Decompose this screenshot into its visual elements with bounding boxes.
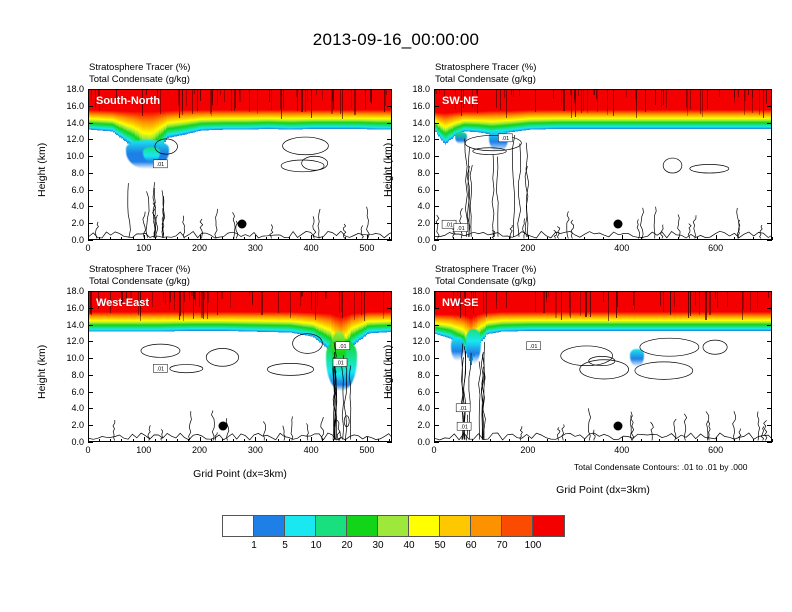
x-tick-minor bbox=[603, 439, 604, 442]
y-tick-mark bbox=[434, 442, 439, 443]
condensate-contours: .01.01.01 bbox=[89, 292, 392, 442]
plot-area-nw-se[interactable]: .01.01.01NW-SE bbox=[434, 291, 772, 442]
colorbar[interactable] bbox=[222, 515, 565, 537]
x-tick-minor bbox=[584, 237, 585, 240]
x-tick-mark bbox=[144, 437, 145, 442]
x-tick-mark bbox=[144, 235, 145, 240]
y-tick-mark bbox=[434, 190, 439, 191]
y-tick-label: 8.0 bbox=[400, 168, 430, 178]
svg-text:.01: .01 bbox=[339, 344, 347, 350]
colorbar-label-8: 70 bbox=[496, 540, 507, 551]
x-tick-mark bbox=[88, 235, 89, 240]
x-tick-label: 500 bbox=[359, 243, 374, 253]
svg-text:.01: .01 bbox=[336, 361, 344, 367]
y-tick-label: 2.0 bbox=[400, 420, 430, 430]
colorbar-cell-5[interactable] bbox=[378, 516, 409, 536]
condensate-contours: .01.01.01 bbox=[435, 292, 772, 442]
x-tick-minor bbox=[565, 439, 566, 442]
y-tick-mark bbox=[434, 223, 439, 224]
station-marker[interactable] bbox=[238, 220, 247, 229]
colorbar-cell-1[interactable] bbox=[254, 516, 285, 536]
colorbar-label-4: 30 bbox=[372, 540, 383, 551]
y-tick-label: 2.0 bbox=[54, 420, 84, 430]
x-tick-mark bbox=[200, 437, 201, 442]
y-tick-mark bbox=[434, 358, 439, 359]
station-marker[interactable] bbox=[614, 422, 623, 431]
x-tick-label: 500 bbox=[359, 445, 374, 455]
x-tick-mark bbox=[367, 235, 368, 240]
x-tick-minor bbox=[472, 439, 473, 442]
y-tick-label: 8.0 bbox=[400, 370, 430, 380]
x-tick-minor bbox=[133, 237, 134, 240]
x-tick-minor bbox=[356, 439, 357, 442]
x-tick-label: 0 bbox=[85, 445, 90, 455]
panel-header: Stratosphere Tracer (%)Total Condensate … bbox=[89, 264, 190, 287]
x-tick-minor bbox=[289, 439, 290, 442]
y-tick-mark-right bbox=[387, 425, 392, 426]
y-tick-mark-right bbox=[387, 325, 392, 326]
y-tick-label: 14.0 bbox=[400, 320, 430, 330]
y-tick-mark-right bbox=[387, 223, 392, 224]
y-tick-mark bbox=[434, 308, 439, 309]
x-tick-minor bbox=[565, 237, 566, 240]
x-tick-minor bbox=[509, 439, 510, 442]
x-tick-minor bbox=[509, 237, 510, 240]
y-tick-mark bbox=[88, 325, 93, 326]
y-tick-mark-right bbox=[767, 325, 772, 326]
y-tick-mark bbox=[434, 240, 439, 241]
x-tick-label: 200 bbox=[520, 445, 535, 455]
y-tick-mark bbox=[434, 173, 439, 174]
y-tick-mark-right bbox=[767, 442, 772, 443]
y-tick-mark-right bbox=[767, 408, 772, 409]
station-marker[interactable] bbox=[218, 422, 227, 431]
y-tick-mark bbox=[434, 425, 439, 426]
y-tick-mark bbox=[434, 375, 439, 376]
y-tick-label: 6.0 bbox=[54, 387, 84, 397]
header-line-1: Total Condensate (g/kg) bbox=[435, 74, 536, 86]
panel-header: Stratosphere Tracer (%)Total Condensate … bbox=[435, 264, 536, 287]
y-tick-mark-right bbox=[767, 425, 772, 426]
x-tick-mark bbox=[434, 235, 435, 240]
y-tick-label: 0.0 bbox=[54, 437, 84, 447]
x-tick-minor bbox=[453, 237, 454, 240]
header-line-0: Stratosphere Tracer (%) bbox=[89, 62, 190, 74]
y-tick-mark bbox=[434, 392, 439, 393]
x-tick-minor bbox=[155, 237, 156, 240]
header-line-0: Stratosphere Tracer (%) bbox=[89, 264, 190, 276]
x-tick-minor bbox=[659, 237, 660, 240]
x-tick-minor bbox=[378, 439, 379, 442]
y-tick-mark-right bbox=[387, 341, 392, 342]
x-tick-minor bbox=[333, 237, 334, 240]
x-tick-minor bbox=[345, 237, 346, 240]
x-tick-minor bbox=[188, 439, 189, 442]
y-tick-mark bbox=[434, 139, 439, 140]
y-tick-mark-right bbox=[387, 123, 392, 124]
y-tick-label: 16.0 bbox=[54, 101, 84, 111]
y-tick-mark-right bbox=[767, 123, 772, 124]
x-axis-title: Grid Point (dx=3km) bbox=[88, 468, 392, 480]
x-tick-label: 200 bbox=[520, 243, 535, 253]
svg-text:.01: .01 bbox=[502, 136, 510, 142]
y-tick-label: 4.0 bbox=[400, 403, 430, 413]
x-tick-minor bbox=[133, 439, 134, 442]
y-tick-mark bbox=[434, 156, 439, 157]
y-tick-label: 6.0 bbox=[400, 387, 430, 397]
x-tick-minor bbox=[753, 237, 754, 240]
y-tick-mark bbox=[434, 325, 439, 326]
y-axis-title: Height (km) bbox=[382, 344, 394, 398]
y-tick-label: 12.0 bbox=[400, 134, 430, 144]
colorbar-label-2: 10 bbox=[310, 540, 321, 551]
y-tick-mark bbox=[88, 106, 93, 107]
y-tick-label: 10.0 bbox=[54, 151, 84, 161]
y-tick-label: 10.0 bbox=[400, 353, 430, 363]
x-tick-minor bbox=[211, 439, 212, 442]
x-tick-mark bbox=[367, 437, 368, 442]
x-tick-minor bbox=[278, 237, 279, 240]
x-tick-mark bbox=[255, 437, 256, 442]
y-tick-mark-right bbox=[767, 341, 772, 342]
y-tick-mark-right bbox=[767, 190, 772, 191]
y-tick-mark-right bbox=[767, 392, 772, 393]
y-tick-mark bbox=[88, 173, 93, 174]
y-tick-mark-right bbox=[387, 442, 392, 443]
y-tick-mark bbox=[88, 408, 93, 409]
x-tick-minor bbox=[641, 237, 642, 240]
y-tick-mark bbox=[88, 156, 93, 157]
colorbar-cell-4[interactable] bbox=[347, 516, 378, 536]
y-tick-label: 16.0 bbox=[400, 101, 430, 111]
panel-header: Stratosphere Tracer (%)Total Condensate … bbox=[435, 62, 536, 85]
y-tick-label: 0.0 bbox=[400, 437, 430, 447]
y-tick-mark bbox=[88, 291, 93, 292]
header-line-1: Total Condensate (g/kg) bbox=[435, 276, 536, 288]
x-tick-minor bbox=[389, 439, 390, 442]
x-tick-minor bbox=[222, 439, 223, 442]
x-tick-minor bbox=[99, 439, 100, 442]
x-tick-minor bbox=[300, 237, 301, 240]
y-tick-mark-right bbox=[767, 291, 772, 292]
x-tick-minor bbox=[378, 237, 379, 240]
y-tick-label: 2.0 bbox=[400, 218, 430, 228]
y-tick-label: 14.0 bbox=[54, 118, 84, 128]
y-tick-mark bbox=[88, 139, 93, 140]
x-tick-minor bbox=[333, 439, 334, 442]
colorbar-label-0: 1 bbox=[251, 540, 257, 551]
header-line-0: Stratosphere Tracer (%) bbox=[435, 264, 536, 276]
x-tick-mark bbox=[716, 235, 717, 240]
header-line-1: Total Condensate (g/kg) bbox=[89, 276, 190, 288]
x-tick-label: 400 bbox=[614, 445, 629, 455]
y-tick-mark-right bbox=[387, 89, 392, 90]
figure-root: 2013-09-16_00:00:00 Stratosphere Tracer … bbox=[0, 0, 792, 612]
y-tick-mark bbox=[434, 408, 439, 409]
y-tick-mark-right bbox=[767, 358, 772, 359]
x-tick-mark bbox=[528, 437, 529, 442]
x-tick-mark bbox=[622, 235, 623, 240]
x-tick-mark bbox=[622, 437, 623, 442]
x-tick-minor bbox=[389, 237, 390, 240]
x-tick-mark bbox=[88, 437, 89, 442]
figure-title: 2013-09-16_00:00:00 bbox=[0, 30, 792, 50]
x-tick-mark bbox=[200, 235, 201, 240]
y-tick-mark-right bbox=[767, 139, 772, 140]
x-tick-minor bbox=[278, 439, 279, 442]
y-tick-label: 14.0 bbox=[54, 320, 84, 330]
y-tick-mark-right bbox=[767, 223, 772, 224]
x-tick-minor bbox=[356, 237, 357, 240]
svg-text:.01: .01 bbox=[157, 162, 165, 168]
condensate-contours: .01 bbox=[89, 90, 392, 240]
x-tick-minor bbox=[177, 237, 178, 240]
y-tick-label: 16.0 bbox=[54, 303, 84, 313]
x-tick-minor bbox=[322, 237, 323, 240]
y-tick-label: 6.0 bbox=[400, 185, 430, 195]
y-tick-mark bbox=[88, 358, 93, 359]
svg-text:.01: .01 bbox=[460, 424, 468, 430]
y-tick-mark-right bbox=[767, 308, 772, 309]
x-axis-title: Grid Point (dx=3km) bbox=[434, 484, 772, 496]
x-tick-minor bbox=[490, 237, 491, 240]
x-tick-minor bbox=[233, 237, 234, 240]
svg-text:.01: .01 bbox=[457, 226, 465, 232]
y-tick-label: 10.0 bbox=[54, 353, 84, 363]
svg-text:.01: .01 bbox=[530, 344, 538, 350]
x-tick-minor bbox=[547, 439, 548, 442]
y-tick-label: 10.0 bbox=[400, 151, 430, 161]
x-tick-mark bbox=[434, 437, 435, 442]
x-tick-minor bbox=[222, 237, 223, 240]
x-tick-label: 0 bbox=[85, 243, 90, 253]
x-tick-minor bbox=[211, 237, 212, 240]
x-tick-minor bbox=[603, 237, 604, 240]
x-tick-label: 0 bbox=[431, 243, 436, 253]
colorbar-label-6: 50 bbox=[434, 540, 445, 551]
condensate-contours: .01.01.01 bbox=[435, 90, 772, 240]
y-tick-label: 18.0 bbox=[400, 84, 430, 94]
x-tick-minor bbox=[453, 439, 454, 442]
x-tick-minor bbox=[188, 237, 189, 240]
y-tick-mark bbox=[88, 308, 93, 309]
x-tick-minor bbox=[266, 237, 267, 240]
y-axis-title: Height (km) bbox=[382, 142, 394, 196]
y-axis-title: Height (km) bbox=[36, 344, 48, 398]
y-tick-mark bbox=[88, 123, 93, 124]
y-tick-mark bbox=[88, 240, 93, 241]
y-tick-mark bbox=[88, 190, 93, 191]
y-tick-label: 18.0 bbox=[54, 84, 84, 94]
y-tick-label: 14.0 bbox=[400, 118, 430, 128]
y-tick-mark-right bbox=[387, 139, 392, 140]
x-tick-minor bbox=[472, 237, 473, 240]
x-tick-minor bbox=[166, 439, 167, 442]
colorbar-label-3: 20 bbox=[341, 540, 352, 551]
y-tick-label: 6.0 bbox=[54, 185, 84, 195]
y-tick-mark bbox=[88, 425, 93, 426]
colorbar-cell-0[interactable] bbox=[223, 516, 254, 536]
colorbar-cell-9[interactable] bbox=[502, 516, 533, 536]
x-tick-minor bbox=[490, 439, 491, 442]
x-tick-minor bbox=[110, 439, 111, 442]
x-tick-minor bbox=[121, 237, 122, 240]
x-tick-minor bbox=[177, 439, 178, 442]
colorbar-cell-6[interactable] bbox=[409, 516, 440, 536]
colorbar-cell-8[interactable] bbox=[471, 516, 502, 536]
y-tick-mark-right bbox=[767, 375, 772, 376]
x-tick-minor bbox=[233, 439, 234, 442]
y-tick-label: 8.0 bbox=[54, 168, 84, 178]
panel-label-south-north: South-North bbox=[96, 95, 160, 107]
y-tick-mark bbox=[88, 206, 93, 207]
x-tick-minor bbox=[772, 439, 773, 442]
x-tick-minor bbox=[772, 237, 773, 240]
x-tick-mark bbox=[528, 235, 529, 240]
tracer-column bbox=[771, 292, 772, 441]
panel-label-sw-ne: SW-NE bbox=[442, 95, 478, 107]
x-tick-label: 400 bbox=[304, 445, 319, 455]
y-axis-title: Height (km) bbox=[36, 142, 48, 196]
tracer-striation bbox=[771, 292, 772, 315]
y-tick-mark-right bbox=[387, 240, 392, 241]
x-tick-minor bbox=[345, 439, 346, 442]
y-tick-label: 4.0 bbox=[54, 403, 84, 413]
colorbar-cell-10[interactable] bbox=[533, 516, 564, 536]
x-tick-minor bbox=[678, 439, 679, 442]
svg-text:.01: .01 bbox=[459, 406, 467, 412]
x-tick-minor bbox=[266, 439, 267, 442]
x-tick-label: 300 bbox=[248, 445, 263, 455]
tracer-column bbox=[771, 90, 772, 239]
x-tick-minor bbox=[734, 237, 735, 240]
x-tick-mark bbox=[311, 235, 312, 240]
y-tick-mark-right bbox=[387, 291, 392, 292]
contour-note: Total Condensate Contours: .01 to .01 by… bbox=[574, 462, 747, 472]
x-tick-label: 0 bbox=[431, 445, 436, 455]
y-tick-mark-right bbox=[767, 240, 772, 241]
y-tick-label: 0.0 bbox=[54, 235, 84, 245]
y-tick-label: 0.0 bbox=[400, 235, 430, 245]
x-tick-minor bbox=[678, 237, 679, 240]
colorbar-cell-2[interactable] bbox=[285, 516, 316, 536]
x-tick-label: 600 bbox=[708, 445, 723, 455]
station-marker[interactable] bbox=[614, 220, 623, 229]
y-tick-mark-right bbox=[767, 106, 772, 107]
x-tick-label: 100 bbox=[136, 243, 151, 253]
header-line-0: Stratosphere Tracer (%) bbox=[435, 62, 536, 74]
x-tick-label: 400 bbox=[304, 243, 319, 253]
y-tick-label: 18.0 bbox=[54, 286, 84, 296]
x-tick-minor bbox=[300, 439, 301, 442]
svg-text:.01: .01 bbox=[445, 222, 453, 228]
colorbar-cell-7[interactable] bbox=[440, 516, 471, 536]
y-tick-mark-right bbox=[767, 89, 772, 90]
plot-area-sw-ne[interactable]: .01.01.01SW-NE bbox=[434, 89, 772, 240]
y-tick-mark-right bbox=[767, 206, 772, 207]
colorbar-label-1: 5 bbox=[282, 540, 288, 551]
y-tick-mark bbox=[434, 123, 439, 124]
y-tick-mark-right bbox=[387, 408, 392, 409]
y-tick-mark bbox=[434, 106, 439, 107]
y-tick-mark bbox=[88, 442, 93, 443]
x-tick-label: 600 bbox=[708, 243, 723, 253]
x-tick-label: 300 bbox=[248, 243, 263, 253]
x-tick-minor bbox=[547, 237, 548, 240]
y-tick-mark bbox=[434, 206, 439, 207]
y-tick-label: 12.0 bbox=[54, 134, 84, 144]
x-tick-minor bbox=[99, 237, 100, 240]
x-tick-minor bbox=[244, 237, 245, 240]
plot-area-west-east[interactable]: .01.01.01West-East bbox=[88, 291, 392, 442]
y-tick-mark-right bbox=[387, 308, 392, 309]
y-tick-label: 12.0 bbox=[54, 336, 84, 346]
y-tick-mark-right bbox=[387, 206, 392, 207]
panel-label-nw-se: NW-SE bbox=[442, 297, 478, 309]
y-tick-mark bbox=[434, 341, 439, 342]
y-tick-mark bbox=[434, 291, 439, 292]
x-tick-minor bbox=[166, 237, 167, 240]
x-tick-minor bbox=[244, 439, 245, 442]
x-tick-label: 100 bbox=[136, 445, 151, 455]
colorbar-label-5: 40 bbox=[403, 540, 414, 551]
x-tick-minor bbox=[753, 439, 754, 442]
svg-text:.01: .01 bbox=[157, 367, 165, 373]
y-tick-label: 16.0 bbox=[400, 303, 430, 313]
y-tick-label: 4.0 bbox=[400, 201, 430, 211]
y-tick-mark bbox=[88, 392, 93, 393]
y-tick-mark bbox=[88, 375, 93, 376]
x-tick-label: 200 bbox=[192, 445, 207, 455]
x-tick-minor bbox=[697, 237, 698, 240]
x-tick-minor bbox=[155, 439, 156, 442]
x-tick-mark bbox=[716, 437, 717, 442]
y-tick-mark bbox=[434, 89, 439, 90]
y-tick-mark-right bbox=[767, 173, 772, 174]
panel-header: Stratosphere Tracer (%)Total Condensate … bbox=[89, 62, 190, 85]
colorbar-label-9: 100 bbox=[525, 540, 542, 551]
x-tick-minor bbox=[584, 439, 585, 442]
colorbar-cell-3[interactable] bbox=[316, 516, 347, 536]
x-tick-minor bbox=[659, 439, 660, 442]
y-tick-label: 4.0 bbox=[54, 201, 84, 211]
plot-area-south-north[interactable]: .01South-North bbox=[88, 89, 392, 240]
y-tick-mark-right bbox=[387, 106, 392, 107]
x-tick-mark bbox=[255, 235, 256, 240]
x-tick-minor bbox=[322, 439, 323, 442]
panel-label-west-east: West-East bbox=[96, 297, 149, 309]
x-tick-minor bbox=[697, 439, 698, 442]
x-tick-minor bbox=[289, 237, 290, 240]
y-tick-mark bbox=[88, 89, 93, 90]
header-line-1: Total Condensate (g/kg) bbox=[89, 74, 190, 86]
x-tick-label: 200 bbox=[192, 243, 207, 253]
y-tick-label: 2.0 bbox=[54, 218, 84, 228]
x-tick-label: 400 bbox=[614, 243, 629, 253]
x-tick-minor bbox=[110, 237, 111, 240]
y-tick-label: 18.0 bbox=[400, 286, 430, 296]
x-tick-minor bbox=[641, 439, 642, 442]
y-tick-label: 12.0 bbox=[400, 336, 430, 346]
y-tick-mark-right bbox=[767, 156, 772, 157]
x-tick-mark bbox=[311, 437, 312, 442]
y-tick-mark bbox=[88, 341, 93, 342]
x-tick-minor bbox=[734, 439, 735, 442]
colorbar-label-7: 60 bbox=[465, 540, 476, 551]
x-tick-minor bbox=[121, 439, 122, 442]
y-tick-mark bbox=[88, 223, 93, 224]
y-tick-label: 8.0 bbox=[54, 370, 84, 380]
